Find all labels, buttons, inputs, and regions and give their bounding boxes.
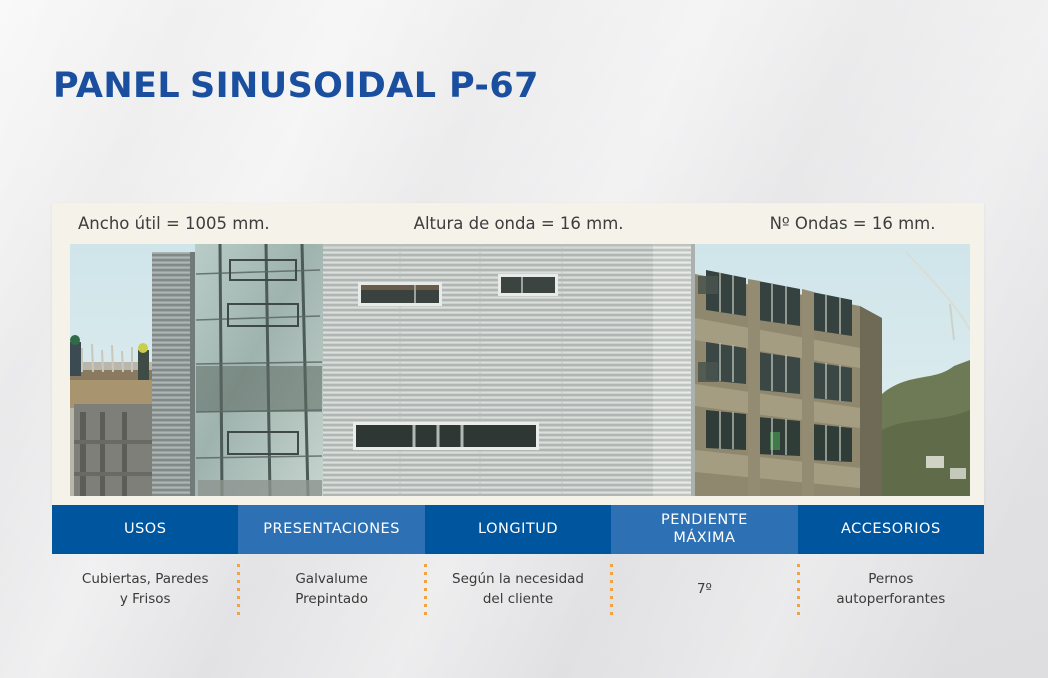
- page-title-part-1: PANEL: [53, 66, 180, 106]
- table-cell-accesorios: Pernos autoperforantes: [798, 554, 984, 626]
- table-header-longitud: LONGITUD: [425, 505, 611, 554]
- table-cell-longitud: Según la necesidad del cliente: [425, 554, 611, 626]
- spec-altura-de-onda: Altura de onda = 16 mm.: [414, 214, 624, 233]
- spec-numero-ondas: Nº Ondas = 16 mm.: [770, 214, 936, 233]
- table-header-pendiente-maxima: PENDIENTE MÁXIMA: [611, 505, 797, 554]
- product-card: Ancho útil = 1005 mm. Altura de onda = 1…: [52, 203, 984, 506]
- spec-table-body: Cubiertas, Paredes y Frisos Galvalume Pr…: [52, 554, 984, 626]
- table-cell-presentaciones: Galvalume Prepintado: [238, 554, 424, 626]
- table-header-presentaciones: PRESENTACIONES: [238, 505, 424, 554]
- table-header-usos: USOS: [52, 505, 238, 554]
- spec-row: Ancho útil = 1005 mm. Altura de onda = 1…: [52, 203, 984, 244]
- page-title-part-2: SINUSOIDAL P-67: [190, 66, 539, 106]
- table-cell-pendiente-maxima: 7º: [611, 554, 797, 626]
- table-header-accesorios: ACCESORIOS: [798, 505, 984, 554]
- product-photo: [70, 244, 970, 496]
- table-cell-usos: Cubiertas, Paredes y Frisos: [52, 554, 238, 626]
- page-title: PANELSINUSOIDAL P-67: [53, 66, 539, 106]
- slide-page: PANELSINUSOIDAL P-67 Ancho útil = 1005 m…: [0, 0, 1048, 678]
- spec-ancho-util: Ancho útil = 1005 mm.: [78, 214, 270, 233]
- spec-table-header: USOS PRESENTACIONES LONGITUD PENDIENTE M…: [52, 505, 984, 554]
